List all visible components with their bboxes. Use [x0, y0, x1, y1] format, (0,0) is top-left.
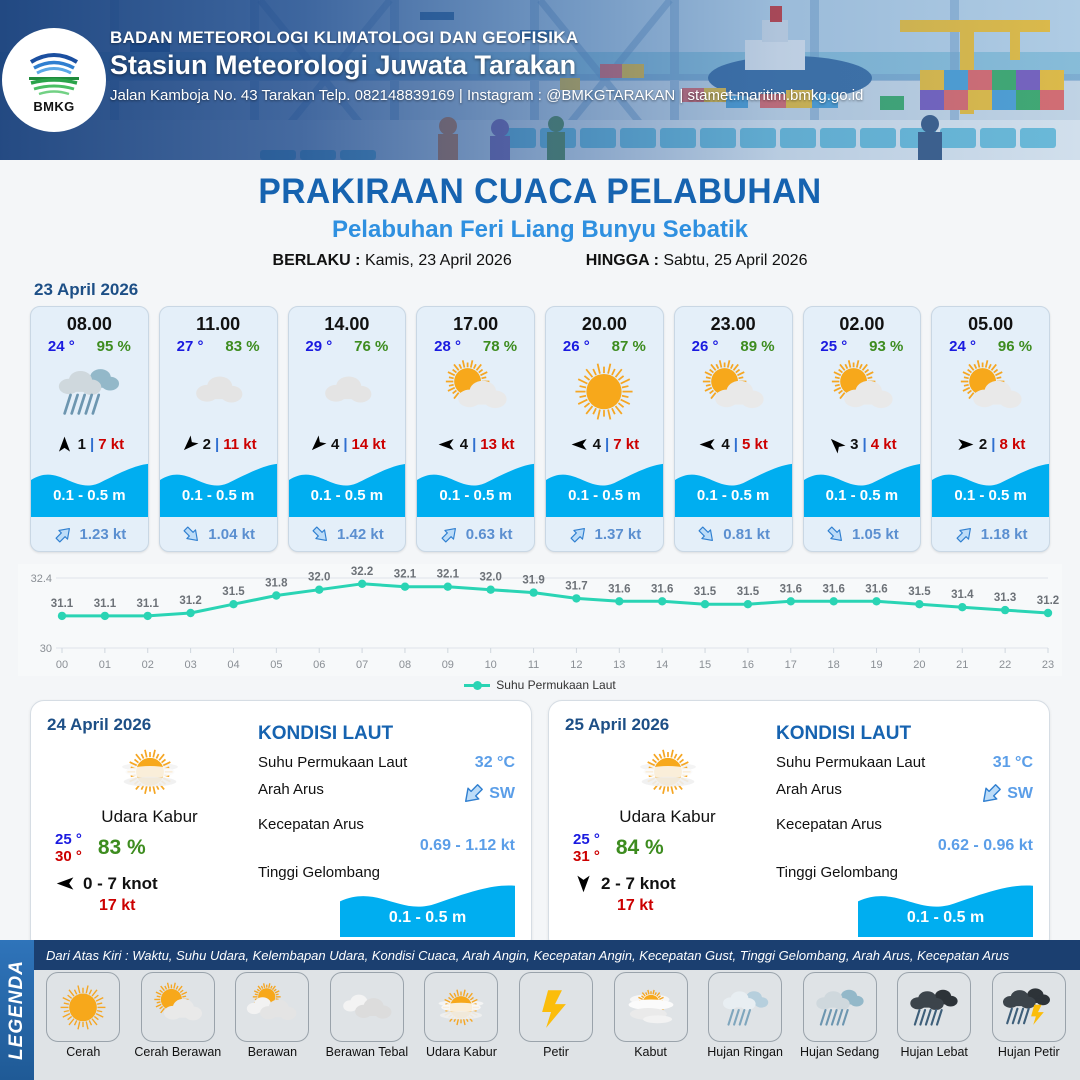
- partly-cloudy-icon: [145, 981, 211, 1034]
- svg-text:08: 08: [399, 659, 411, 671]
- card-wind-row: 4 | 5 kt: [675, 429, 792, 459]
- svg-text:01: 01: [99, 659, 111, 671]
- card-temp-humidity-row: 28 ° 78 %: [417, 335, 534, 355]
- svg-text:31.9: 31.9: [522, 575, 544, 587]
- legend-item-label: Hujan Petir: [998, 1045, 1060, 1059]
- panel-temp-max: 31 °: [573, 848, 600, 865]
- card-current-row: 1.04 kt: [160, 517, 277, 551]
- legend-item-label: Hujan Lebat: [900, 1045, 967, 1059]
- panel-current-dir-value: SW: [1007, 785, 1033, 803]
- card-time: 23.00: [675, 307, 792, 335]
- hourly-forecast-card: 11.00 27 ° 83 % 2 | 11 kt 0.1 - 0.5 m 1.…: [159, 306, 278, 552]
- svg-text:32.1: 32.1: [437, 569, 460, 581]
- haze-icon: [627, 739, 709, 805]
- panel-temp-column: 25 ° 31 °: [573, 831, 600, 865]
- card-current-row: 0.63 kt: [417, 517, 534, 551]
- svg-text:11: 11: [528, 659, 539, 671]
- card-wind-speed: 7 kt: [613, 436, 639, 453]
- svg-text:31.2: 31.2: [179, 595, 201, 607]
- sst-line-chart: 32.4300001020304050607080910111213141516…: [18, 564, 1062, 676]
- card-wind-row: 2 | 8 kt: [932, 429, 1049, 459]
- card-weather-icon: [289, 355, 406, 429]
- svg-text:14: 14: [656, 659, 668, 671]
- fog-icon: [618, 981, 684, 1034]
- card-wind-degree: 4: [460, 436, 468, 453]
- hourly-forecast-card: 14.00 29 ° 76 % 4 | 14 kt 0.1 - 0.5 m 1.…: [288, 306, 407, 552]
- svg-text:32.0: 32.0: [308, 572, 330, 584]
- hourly-forecast-card: 17.00 28 ° 78 % 4 | 13 kt 0.1 - 0.5 m 0.…: [416, 306, 535, 552]
- card-wave-height: 0.1 - 0.5 m: [31, 487, 148, 504]
- svg-text:31.1: 31.1: [94, 598, 117, 610]
- card-temp-humidity-row: 24 ° 96 %: [932, 335, 1049, 355]
- card-wind-speed: 14 kt: [352, 436, 386, 453]
- panel-current-speed-value: 0.62 - 0.96 kt: [776, 837, 1033, 855]
- wind-direction-arrow-w-icon: [698, 435, 717, 454]
- card-wind-degree: 4: [331, 436, 339, 453]
- card-wave-block: 0.1 - 0.5 m: [160, 461, 277, 517]
- card-time: 11.00: [160, 307, 277, 335]
- card-weather-icon: [546, 355, 663, 429]
- card-current-speed: 1.37 kt: [595, 526, 642, 543]
- card-wind-speed: 11 kt: [223, 436, 256, 453]
- sunny-icon: [50, 981, 116, 1034]
- panel-temp-humidity: 25 ° 30 ° 83 %: [47, 831, 252, 865]
- svg-text:10: 10: [485, 659, 497, 671]
- card-weather-icon: [417, 355, 534, 429]
- panel-sst-label: Suhu Permukaan Laut: [776, 754, 925, 771]
- wind-separator: |: [215, 436, 219, 453]
- legend-item: Kabut: [605, 972, 696, 1059]
- card-current-row: 1.42 kt: [289, 517, 406, 551]
- panel-temp-min: 25 °: [55, 831, 82, 848]
- logo-text: BMKG: [33, 99, 74, 114]
- svg-text:31.8: 31.8: [265, 578, 288, 590]
- panel-current-speed-label: Kecepatan Arus: [776, 816, 882, 833]
- card-temp-humidity-row: 25 ° 93 %: [804, 335, 921, 355]
- panel-sst-row: Suhu Permukaan Laut 32 °C: [258, 754, 515, 772]
- hourly-forecast-card: 02.00 25 ° 93 % 3 | 4 kt 0.1 - 0.5 m 1.0…: [803, 306, 922, 552]
- legend-item: Cerah Berawan: [133, 972, 224, 1059]
- legend-item: Hujan Lebat: [889, 972, 980, 1059]
- legend-item-label: Cerah: [66, 1045, 100, 1059]
- svg-text:21: 21: [956, 659, 968, 671]
- overcast-icon: [334, 981, 400, 1034]
- valid-until: HINGGA : Sabtu, 25 April 2026: [586, 252, 808, 270]
- svg-text:02: 02: [142, 659, 154, 671]
- svg-text:16: 16: [742, 659, 754, 671]
- legend-item-label: Hujan Ringan: [707, 1045, 783, 1059]
- svg-text:32.4: 32.4: [31, 573, 52, 585]
- wind-separator: |: [343, 436, 347, 453]
- card-current-row: 1.18 kt: [932, 517, 1049, 551]
- legend-item-label: Udara Kabur: [426, 1045, 497, 1059]
- card-current-speed: 0.81 kt: [723, 526, 770, 543]
- legend-item-label: Kabut: [634, 1045, 667, 1059]
- wind-separator: |: [605, 436, 609, 453]
- panel-weather-icon: [47, 739, 252, 805]
- partly-cloudy-icon: [691, 358, 775, 425]
- valid-until-label: HINGGA :: [586, 252, 659, 269]
- legend-item-label: Cerah Berawan: [134, 1045, 221, 1059]
- current-direction-arrow-se-icon: [825, 524, 846, 545]
- card-temp-humidity-row: 29 ° 76 %: [289, 335, 406, 355]
- card-current-speed: 1.42 kt: [337, 526, 384, 543]
- wind-direction-arrow-e-icon: [956, 435, 975, 454]
- header-text-block: BADAN METEOROLOGI KLIMATOLOGI DAN GEOFIS…: [110, 28, 863, 104]
- current-direction-arrow-ne-icon: [53, 524, 74, 545]
- legend-icon-box: [992, 972, 1066, 1042]
- partly-cloudy-icon: [820, 358, 904, 425]
- hourly-forecast-row: 08.00 24 ° 95 % 1 | 7 kt 0.1 - 0.5 m 1.2…: [0, 306, 1080, 552]
- legend-swatch-icon: [464, 684, 490, 687]
- card-current-row: 1.23 kt: [31, 517, 148, 551]
- panel-sst-value: 32 °C: [475, 754, 515, 772]
- card-weather-icon: [804, 355, 921, 429]
- legend-tab: LEGENDA: [0, 940, 34, 1080]
- panel-date: 25 April 2026: [565, 715, 770, 735]
- panel-wave-value: 0.1 - 0.5 m: [858, 909, 1033, 927]
- panel-wave-label: Tinggi Gelombang: [258, 864, 380, 881]
- card-weather-icon: [932, 355, 1049, 429]
- mostly-cloudy-icon: [239, 981, 305, 1034]
- card-wave-height: 0.1 - 0.5 m: [160, 487, 277, 504]
- legend-item: Hujan Ringan: [700, 972, 791, 1059]
- card-temp-humidity-row: 26 ° 89 %: [675, 335, 792, 355]
- card-current-speed: 1.23 kt: [80, 526, 127, 543]
- panel-wind-range: 0 - 7 knot: [83, 874, 158, 894]
- current-direction-arrow-sw-icon: [978, 781, 1004, 807]
- panel-current-speed-row: Kecepatan Arus: [258, 816, 515, 833]
- card-humidity: 96 %: [998, 338, 1032, 355]
- card-humidity: 95 %: [97, 338, 131, 355]
- card-wind-speed: 13 kt: [480, 436, 514, 453]
- svg-text:31.1: 31.1: [51, 598, 74, 610]
- svg-text:31.6: 31.6: [865, 583, 887, 595]
- panel-current-dir-row: Arah Arus SW: [258, 781, 515, 807]
- panel-temp-column: 25 ° 30 °: [55, 831, 82, 865]
- card-wave-block: 0.1 - 0.5 m: [417, 461, 534, 517]
- rain-moderate-icon: [47, 358, 131, 425]
- card-wave-height: 0.1 - 0.5 m: [289, 487, 406, 504]
- card-time: 20.00: [546, 307, 663, 335]
- svg-text:31.5: 31.5: [737, 586, 760, 598]
- panel-current-speed-label: Kecepatan Arus: [258, 816, 364, 833]
- card-humidity: 87 %: [612, 338, 646, 355]
- card-time: 14.00: [289, 307, 406, 335]
- wind-direction-arrow-s-icon: [573, 873, 594, 894]
- svg-text:32.2: 32.2: [351, 566, 373, 578]
- cloudy-icon: [305, 358, 389, 425]
- chart-legend: Suhu Permukaan Laut: [0, 678, 1080, 692]
- card-wave-height: 0.1 - 0.5 m: [546, 487, 663, 504]
- panel-wave-row: Tinggi Gelombang: [776, 864, 1033, 881]
- panel-gust: 17 kt: [565, 897, 770, 915]
- svg-text:32.0: 32.0: [480, 572, 502, 584]
- card-weather-icon: [31, 355, 148, 429]
- card-temperature: 25 °: [820, 338, 847, 355]
- card-wind-row: 4 | 7 kt: [546, 429, 663, 459]
- card-humidity: 76 %: [354, 338, 388, 355]
- panel-wind-range: 2 - 7 knot: [601, 874, 676, 894]
- card-temperature: 28 °: [434, 338, 461, 355]
- title-section: PRAKIRAAN CUACA PELABUHAN Pelabuhan Feri…: [0, 160, 1080, 270]
- card-time: 05.00: [932, 307, 1049, 335]
- wind-separator: |: [863, 436, 867, 453]
- valid-from-value: Kamis, 23 April 2026: [365, 252, 512, 269]
- card-wind-degree: 2: [979, 436, 987, 453]
- svg-text:30: 30: [40, 643, 52, 655]
- partly-cloudy-icon: [949, 358, 1033, 425]
- card-wind-row: 3 | 4 kt: [804, 429, 921, 459]
- current-direction-arrow-se-icon: [310, 524, 331, 545]
- legend-icon-box: [519, 972, 593, 1042]
- card-wave-height: 0.1 - 0.5 m: [417, 487, 534, 504]
- panel-left-column: 24 April 2026 Udara Kabur 25 ° 30 ° 83 %…: [47, 715, 252, 937]
- panel-current-dir-label: Arah Arus: [258, 781, 324, 798]
- legend-item: Petir: [511, 972, 602, 1059]
- panel-wave-value: 0.1 - 0.5 m: [340, 909, 515, 927]
- wind-direction-arrow-n-icon: [55, 435, 74, 454]
- svg-text:09: 09: [442, 659, 454, 671]
- svg-text:06: 06: [313, 659, 325, 671]
- panel-temp-min: 25 °: [573, 831, 600, 848]
- svg-text:22: 22: [999, 659, 1011, 671]
- current-direction-arrow-se-icon: [181, 524, 202, 545]
- haze-icon: [109, 739, 191, 805]
- valid-from: BERLAKU : Kamis, 23 April 2026: [273, 252, 512, 270]
- svg-text:07: 07: [356, 659, 368, 671]
- panel-current-dir-label: Arah Arus: [776, 781, 842, 798]
- svg-text:31.5: 31.5: [694, 586, 717, 598]
- legend-note: Dari Atas Kiri : Waktu, Suhu Udara, Kele…: [46, 948, 1009, 963]
- wind-separator: |: [472, 436, 476, 453]
- panel-right-column: KONDISI LAUT Suhu Permukaan Laut 31 °C A…: [770, 715, 1033, 937]
- panel-sea-heading: KONDISI LAUT: [776, 723, 1033, 745]
- hourly-forecast-card: 08.00 24 ° 95 % 1 | 7 kt 0.1 - 0.5 m 1.2…: [30, 306, 149, 552]
- wind-direction-arrow-nw-icon: [827, 435, 846, 454]
- card-current-speed: 1.18 kt: [981, 526, 1028, 543]
- card-wind-speed: 4 kt: [871, 436, 897, 453]
- station-name: Stasiun Meteorologi Juwata Tarakan: [110, 50, 863, 81]
- card-time: 02.00: [804, 307, 921, 335]
- legend-item: Berawan Tebal: [322, 972, 413, 1059]
- svg-text:20: 20: [913, 659, 925, 671]
- card-current-speed: 1.05 kt: [852, 526, 899, 543]
- hourly-forecast-card: 23.00 26 ° 89 % 4 | 5 kt 0.1 - 0.5 m 0.8…: [674, 306, 793, 552]
- svg-text:31.5: 31.5: [222, 586, 245, 598]
- legend-icon-box: [708, 972, 782, 1042]
- card-wind-speed: 7 kt: [98, 436, 124, 453]
- thunderstorm-icon: [996, 981, 1062, 1034]
- bmkg-logo: BMKG: [2, 28, 106, 132]
- svg-text:31.3: 31.3: [994, 592, 1016, 604]
- panel-current-dir-row: Arah Arus SW: [776, 781, 1033, 807]
- card-wind-degree: 3: [850, 436, 858, 453]
- legend-item-label: Berawan Tebal: [326, 1045, 408, 1059]
- panel-wind-row: 2 - 7 knot: [565, 873, 770, 894]
- card-current-speed: 1.04 kt: [208, 526, 255, 543]
- card-wind-degree: 4: [593, 436, 601, 453]
- legend-icon-box: [803, 972, 877, 1042]
- card-temperature: 26 °: [692, 338, 719, 355]
- haze-icon: [428, 981, 494, 1034]
- panel-sst-row: Suhu Permukaan Laut 31 °C: [776, 754, 1033, 772]
- svg-text:12: 12: [570, 659, 582, 671]
- wind-direction-arrow-w-icon: [55, 873, 76, 894]
- panel-current-dir-value: SW: [489, 785, 515, 803]
- panel-current-dir-value-wrap: SW: [460, 781, 515, 807]
- wind-separator: |: [991, 436, 995, 453]
- lightning-icon: [523, 981, 589, 1034]
- panel-date: 24 April 2026: [47, 715, 252, 735]
- card-wave-block: 0.1 - 0.5 m: [546, 461, 663, 517]
- panel-wave-label: Tinggi Gelombang: [776, 864, 898, 881]
- card-temp-humidity-row: 27 ° 83 %: [160, 335, 277, 355]
- svg-text:00: 00: [56, 659, 68, 671]
- card-temperature: 27 °: [177, 338, 204, 355]
- legend-icon-box: [46, 972, 120, 1042]
- current-direction-arrow-ne-icon: [954, 524, 975, 545]
- daily-forecast-panel: 25 April 2026 Udara Kabur 25 ° 31 ° 84 %…: [548, 700, 1050, 952]
- card-temperature: 24 °: [48, 338, 75, 355]
- svg-text:31.7: 31.7: [565, 580, 587, 592]
- legend-icon-box: [424, 972, 498, 1042]
- panel-left-column: 25 April 2026 Udara Kabur 25 ° 31 ° 84 %…: [565, 715, 770, 937]
- current-direction-arrow-se-icon: [696, 524, 717, 545]
- hourly-forecast-card: 20.00 26 ° 87 % 4 | 7 kt 0.1 - 0.5 m 1.3…: [545, 306, 664, 552]
- card-wind-degree: 4: [721, 436, 729, 453]
- svg-text:31.6: 31.6: [780, 583, 802, 595]
- svg-text:19: 19: [870, 659, 882, 671]
- svg-text:15: 15: [699, 659, 711, 671]
- svg-text:31.1: 31.1: [137, 598, 160, 610]
- svg-text:31.4: 31.4: [951, 589, 974, 601]
- rain-light-icon: [712, 981, 778, 1034]
- card-wind-speed: 8 kt: [999, 436, 1025, 453]
- card-wave-height: 0.1 - 0.5 m: [804, 487, 921, 504]
- svg-text:17: 17: [785, 659, 797, 671]
- svg-text:31.6: 31.6: [651, 583, 673, 595]
- svg-text:31.6: 31.6: [608, 583, 630, 595]
- card-wind-row: 1 | 7 kt: [31, 429, 148, 459]
- sst-chart: 32.4300001020304050607080910111213141516…: [18, 564, 1062, 676]
- wind-separator: |: [734, 436, 738, 453]
- panel-wind-row: 0 - 7 knot: [47, 873, 252, 894]
- card-wind-speed: 5 kt: [742, 436, 768, 453]
- legend-section: LEGENDA Dari Atas Kiri : Waktu, Suhu Uda…: [0, 940, 1080, 1080]
- legend-note-bar: Dari Atas Kiri : Waktu, Suhu Udara, Kele…: [34, 940, 1080, 970]
- panel-humidity: 83 %: [98, 836, 146, 860]
- page-header: BMKG BADAN METEOROLOGI KLIMATOLOGI DAN G…: [0, 0, 1080, 160]
- card-wave-block: 0.1 - 0.5 m: [31, 461, 148, 517]
- card-time: 08.00: [31, 307, 148, 335]
- panel-sst-label: Suhu Permukaan Laut: [258, 754, 407, 771]
- legend-item-label: Berawan: [248, 1045, 297, 1059]
- card-current-row: 0.81 kt: [675, 517, 792, 551]
- partly-cloudy-icon: [434, 358, 518, 425]
- svg-text:23: 23: [1042, 659, 1054, 671]
- card-current-row: 1.05 kt: [804, 517, 921, 551]
- panel-gust: 17 kt: [47, 897, 252, 915]
- panel-weather-icon: [565, 739, 770, 805]
- card-temperature: 26 °: [563, 338, 590, 355]
- panel-condition: Udara Kabur: [47, 807, 252, 827]
- panel-condition: Udara Kabur: [565, 807, 770, 827]
- panel-wave-block: 0.1 - 0.5 m: [776, 883, 1033, 937]
- card-humidity: 78 %: [483, 338, 517, 355]
- rain-moderate-icon: [807, 981, 873, 1034]
- svg-text:31.2: 31.2: [1037, 595, 1059, 607]
- cloudy-icon: [176, 358, 260, 425]
- sunny-icon: [562, 358, 646, 425]
- page-subtitle: Pelabuhan Feri Liang Bunyu Sebatik: [0, 216, 1080, 244]
- daily-forecast-panels: 24 April 2026 Udara Kabur 25 ° 30 ° 83 %…: [0, 692, 1080, 952]
- svg-text:04: 04: [227, 659, 239, 671]
- card-wind-row: 4 | 13 kt: [417, 429, 534, 459]
- svg-text:05: 05: [270, 659, 282, 671]
- wind-direction-arrow-sw-icon: [308, 435, 327, 454]
- page-title: PRAKIRAAN CUACA PELABUHAN: [22, 172, 1059, 212]
- legend-item: Hujan Sedang: [794, 972, 885, 1059]
- card-current-speed: 0.63 kt: [466, 526, 513, 543]
- current-direction-arrow-ne-icon: [439, 524, 460, 545]
- svg-text:18: 18: [828, 659, 840, 671]
- current-direction-arrow-sw-icon: [460, 781, 486, 807]
- svg-text:31.5: 31.5: [908, 586, 931, 598]
- legend-item: Hujan Petir: [983, 972, 1074, 1059]
- rain-heavy-icon: [901, 981, 967, 1034]
- card-wind-row: 2 | 11 kt: [160, 429, 277, 459]
- panel-current-speed-value: 0.69 - 1.12 kt: [258, 837, 515, 855]
- org-name: BADAN METEOROLOGI KLIMATOLOGI DAN GEOFIS…: [110, 28, 863, 48]
- svg-text:13: 13: [613, 659, 625, 671]
- wind-direction-arrow-w-icon: [437, 435, 456, 454]
- card-temperature: 29 °: [305, 338, 332, 355]
- daily-forecast-panel: 24 April 2026 Udara Kabur 25 ° 30 ° 83 %…: [30, 700, 532, 952]
- legend-item: Udara Kabur: [416, 972, 507, 1059]
- legend-icon-box: [330, 972, 404, 1042]
- legend-icon-box: [614, 972, 688, 1042]
- card-wave-height: 0.1 - 0.5 m: [932, 487, 1049, 504]
- valid-from-label: BERLAKU :: [273, 252, 361, 269]
- card-weather-icon: [160, 355, 277, 429]
- card-wind-degree: 2: [203, 436, 211, 453]
- svg-text:31.6: 31.6: [823, 583, 845, 595]
- card-temp-humidity-row: 26 ° 87 %: [546, 335, 663, 355]
- card-temperature: 24 °: [949, 338, 976, 355]
- validity-row: BERLAKU : Kamis, 23 April 2026 HINGGA : …: [0, 252, 1080, 270]
- legend-icon-box: [235, 972, 309, 1042]
- card-wave-block: 0.1 - 0.5 m: [804, 461, 921, 517]
- bmkg-emblem-icon: [23, 46, 85, 98]
- panel-current-dir-value-wrap: SW: [978, 781, 1033, 807]
- panel-sea-heading: KONDISI LAUT: [258, 723, 515, 745]
- legend-label: Suhu Permukaan Laut: [496, 678, 615, 692]
- valid-until-value: Sabtu, 25 April 2026: [663, 252, 807, 269]
- card-current-row: 1.37 kt: [546, 517, 663, 551]
- card-temp-humidity-row: 24 ° 95 %: [31, 335, 148, 355]
- panel-wave-block: 0.1 - 0.5 m: [258, 883, 515, 937]
- panel-temp-humidity: 25 ° 31 ° 84 %: [565, 831, 770, 865]
- card-humidity: 89 %: [740, 338, 774, 355]
- legend-item: Berawan: [227, 972, 318, 1059]
- panel-right-column: KONDISI LAUT Suhu Permukaan Laut 32 °C A…: [252, 715, 515, 937]
- svg-text:32.1: 32.1: [394, 569, 417, 581]
- current-direction-arrow-ne-icon: [568, 524, 589, 545]
- panel-temp-max: 30 °: [55, 848, 82, 865]
- card-humidity: 83 %: [225, 338, 259, 355]
- panel-wave-row: Tinggi Gelombang: [258, 864, 515, 881]
